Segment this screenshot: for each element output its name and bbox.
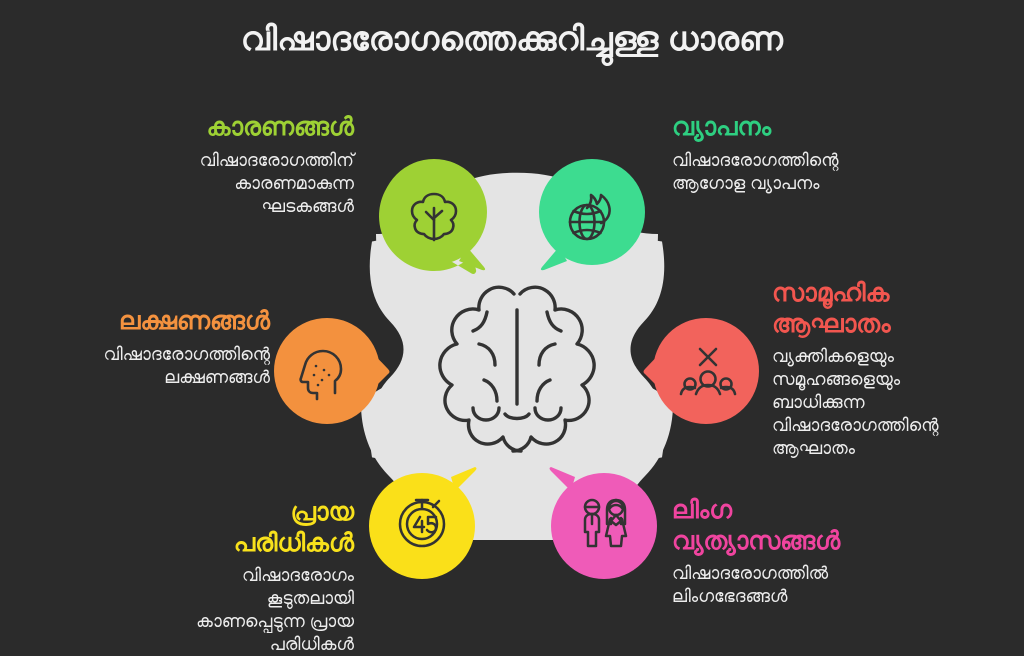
- section-description-spread: വിഷാദരോഗത്തിന്റെ ആഗോള വ്യാപനം: [672, 149, 992, 195]
- section-heading-social: സാമൂഹിക ആഘാതം: [772, 278, 1020, 339]
- head-symptoms-icon: [295, 341, 355, 401]
- man-woman-icon: [574, 492, 634, 552]
- group-x-icon: [678, 341, 738, 401]
- globe-flame-icon: [562, 186, 622, 246]
- section-symptoms: ലക്ഷണങ്ങൾ വിഷാദരോഗത്തിന്റെ ലക്ഷണങ്ങൾ: [8, 306, 270, 389]
- stopwatch-45-icon: [392, 492, 452, 552]
- section-heading-gender: ലിംഗ വ്യത്യാസങ്ങൾ: [672, 495, 972, 556]
- section-description-causes: വിഷാദരോഗത്തിന് കാരണമാകുന്ന ഘടകങ്ങൾ: [18, 149, 354, 218]
- section-age: പ്രായ പരിധികൾ വിഷാദരോഗം കൂടുതലായി കാണപ്പ…: [108, 497, 354, 656]
- section-description-social: വ്യക്തികളെയും സമൂഹങ്ങളെയും ബാധിക്കുന്ന വ…: [772, 345, 1020, 460]
- pin-gender[interactable]: [545, 463, 663, 581]
- section-description-gender: വിഷാദരോഗത്തിൽ ലിംഗഭേദങ്ങൾ: [672, 562, 972, 608]
- pin-age[interactable]: [363, 463, 481, 581]
- tree-icon: [404, 186, 464, 246]
- pin-symptoms[interactable]: [272, 312, 390, 430]
- section-heading-spread: വ്യാപനം: [672, 112, 992, 143]
- section-heading-symptoms: ലക്ഷണങ്ങൾ: [8, 306, 270, 337]
- section-social: സാമൂഹിക ആഘാതം വ്യക്തികളെയും സമൂഹങ്ങളെയും…: [772, 278, 1020, 460]
- section-causes: കാരണങ്ങൾ വിഷാദരോഗത്തിന് കാരണമാകുന്ന ഘടകങ…: [18, 112, 354, 218]
- infographic-root: വിഷാദരോഗത്തെക്കുറിച്ചുള്ള ധാരണ: [0, 0, 1024, 651]
- pin-social[interactable]: [643, 312, 761, 430]
- section-spread: വ്യാപനം വിഷാദരോഗത്തിന്റെ ആഗോള വ്യാപനം: [672, 112, 992, 195]
- section-gender: ലിംഗ വ്യത്യാസങ്ങൾ വിഷാദരോഗത്തിൽ ലിംഗഭേദങ…: [672, 495, 972, 608]
- section-description-symptoms: വിഷാദരോഗത്തിന്റെ ലക്ഷണങ്ങൾ: [8, 343, 270, 389]
- section-description-age: വിഷാദരോഗം കൂടുതലായി കാണപ്പെടുന്ന പ്രായ പ…: [108, 564, 354, 656]
- pin-spread[interactable]: [533, 157, 651, 275]
- page-title: വിഷാദരോഗത്തെക്കുറിച്ചുള്ള ധാരണ: [0, 18, 1024, 59]
- section-heading-causes: കാരണങ്ങൾ: [18, 112, 354, 143]
- section-heading-age: പ്രായ പരിധികൾ: [108, 497, 354, 558]
- pin-causes[interactable]: [375, 157, 493, 275]
